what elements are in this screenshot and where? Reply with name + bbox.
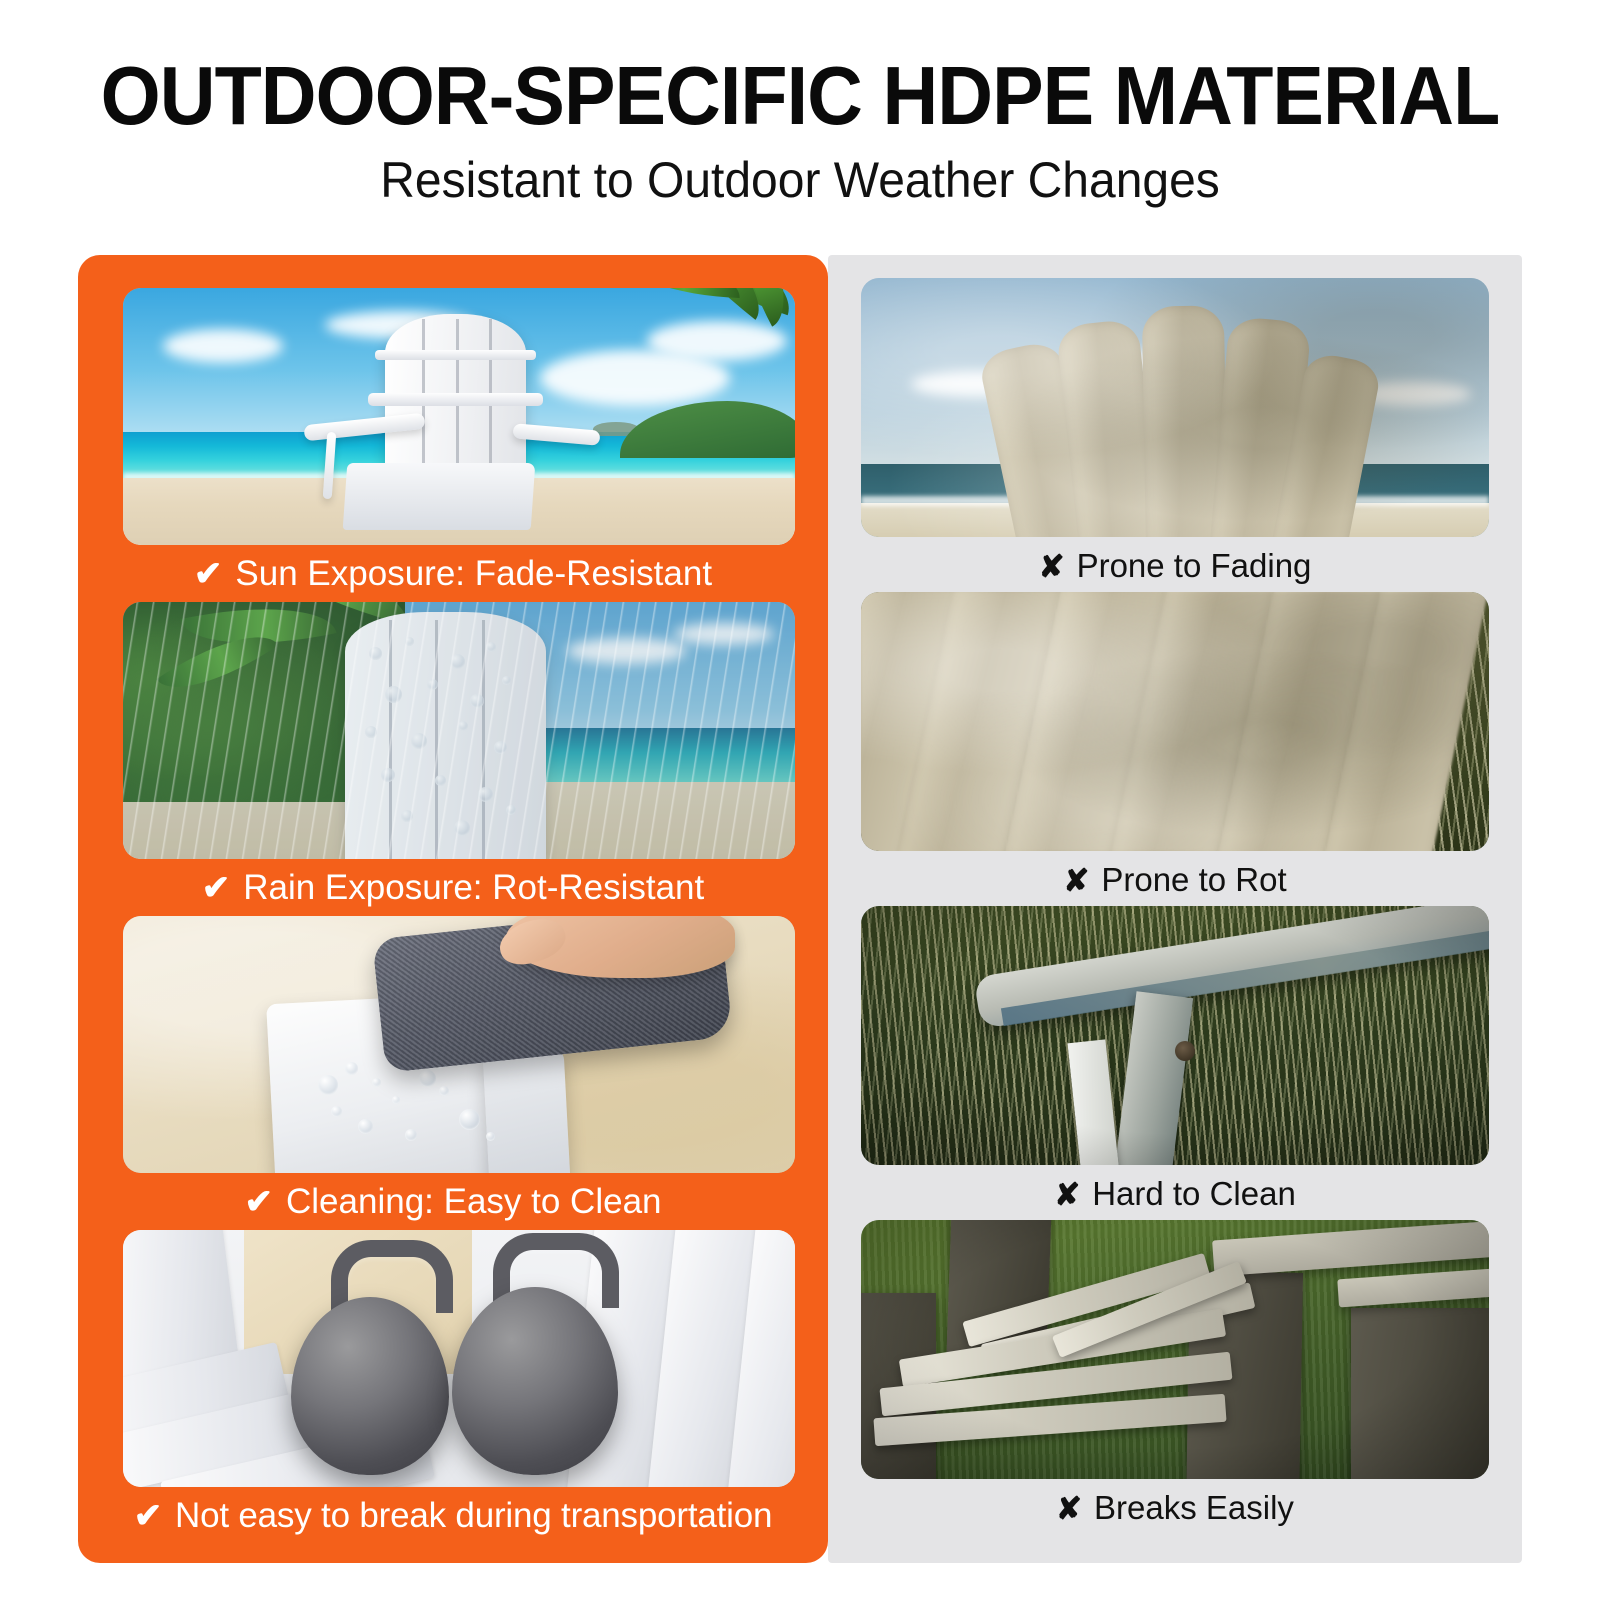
photo-dirty-chair-arm-in-grass	[861, 906, 1489, 1165]
good-photo-rain-exposure	[123, 602, 795, 859]
check-icon: ✔	[134, 1493, 162, 1539]
good-photo-cleaning	[123, 916, 795, 1173]
page-title: OUTDOOR-SPECIFIC HDPE MATERIAL	[56, 0, 1544, 139]
bad-caption-breaks-easily: ✘Breaks Easily	[828, 1486, 1522, 1531]
header: OUTDOOR-SPECIFIC HDPE MATERIAL Resistant…	[0, 0, 1600, 208]
infographic-page: OUTDOOR-SPECIFIC HDPE MATERIAL Resistant…	[0, 0, 1600, 1600]
hdpe-advantages-panel: ✔Sun Exposure: Fade-Resistant	[78, 255, 828, 1563]
check-icon: ✔	[245, 1179, 274, 1225]
cross-icon: ✘	[1039, 545, 1065, 589]
check-icon: ✔	[202, 865, 231, 911]
good-caption-cleaning: ✔Cleaning: Easy to Clean	[78, 1179, 828, 1225]
good-label-rain-exposure: Rain Exposure: Rot-Resistant	[243, 868, 704, 907]
cross-icon: ✘	[1054, 1173, 1080, 1217]
cross-icon: ✘	[1063, 859, 1089, 903]
good-label-transportation: Not easy to break during transportation	[175, 1496, 772, 1535]
good-photo-sun-exposure	[123, 288, 795, 545]
bad-caption-rot: ✘Prone to Rot	[828, 858, 1522, 903]
check-icon: ✔	[194, 551, 223, 597]
good-label-cleaning: Cleaning: Easy to Clean	[286, 1182, 662, 1221]
cross-icon: ✘	[1056, 1487, 1082, 1531]
wood-drawbacks-panel: ✘Prone to Fading ✘Prone to Rot	[828, 255, 1522, 1563]
bad-label-rot: Prone to Rot	[1101, 861, 1286, 898]
photo-chair-in-rain	[123, 602, 795, 859]
bad-label-breaks-easily: Breaks Easily	[1094, 1489, 1294, 1526]
bad-photo-hard-to-clean	[861, 906, 1489, 1165]
photo-broken-wood-slats	[861, 1220, 1489, 1479]
bad-label-fading: Prone to Fading	[1077, 547, 1312, 584]
good-caption-sun-exposure: ✔Sun Exposure: Fade-Resistant	[78, 551, 828, 597]
photo-rotting-wood-slats	[861, 592, 1489, 851]
bad-photo-breaks-easily	[861, 1220, 1489, 1479]
photo-wiping-chair-arm	[123, 916, 795, 1173]
page-subtitle: Resistant to Outdoor Weather Changes	[32, 139, 1568, 208]
bad-caption-fading: ✘Prone to Fading	[828, 544, 1522, 589]
comparison-panels: ✔Sun Exposure: Fade-Resistant	[78, 255, 1522, 1563]
bad-caption-hard-to-clean: ✘Hard to Clean	[828, 1172, 1522, 1217]
photo-faded-wood-chair-back	[861, 278, 1489, 537]
bad-photo-rot	[861, 592, 1489, 851]
good-caption-rain-exposure: ✔Rain Exposure: Rot-Resistant	[78, 865, 828, 911]
bad-label-hard-to-clean: Hard to Clean	[1092, 1175, 1296, 1212]
good-photo-transportation	[123, 1230, 795, 1487]
photo-white-chair-sunny-beach	[123, 288, 795, 545]
good-label-sun-exposure: Sun Exposure: Fade-Resistant	[235, 554, 712, 593]
bad-photo-fading	[861, 278, 1489, 537]
good-caption-transportation: ✔Not easy to break during transportation	[78, 1493, 828, 1539]
photo-kettlebells-on-chair	[123, 1230, 795, 1487]
